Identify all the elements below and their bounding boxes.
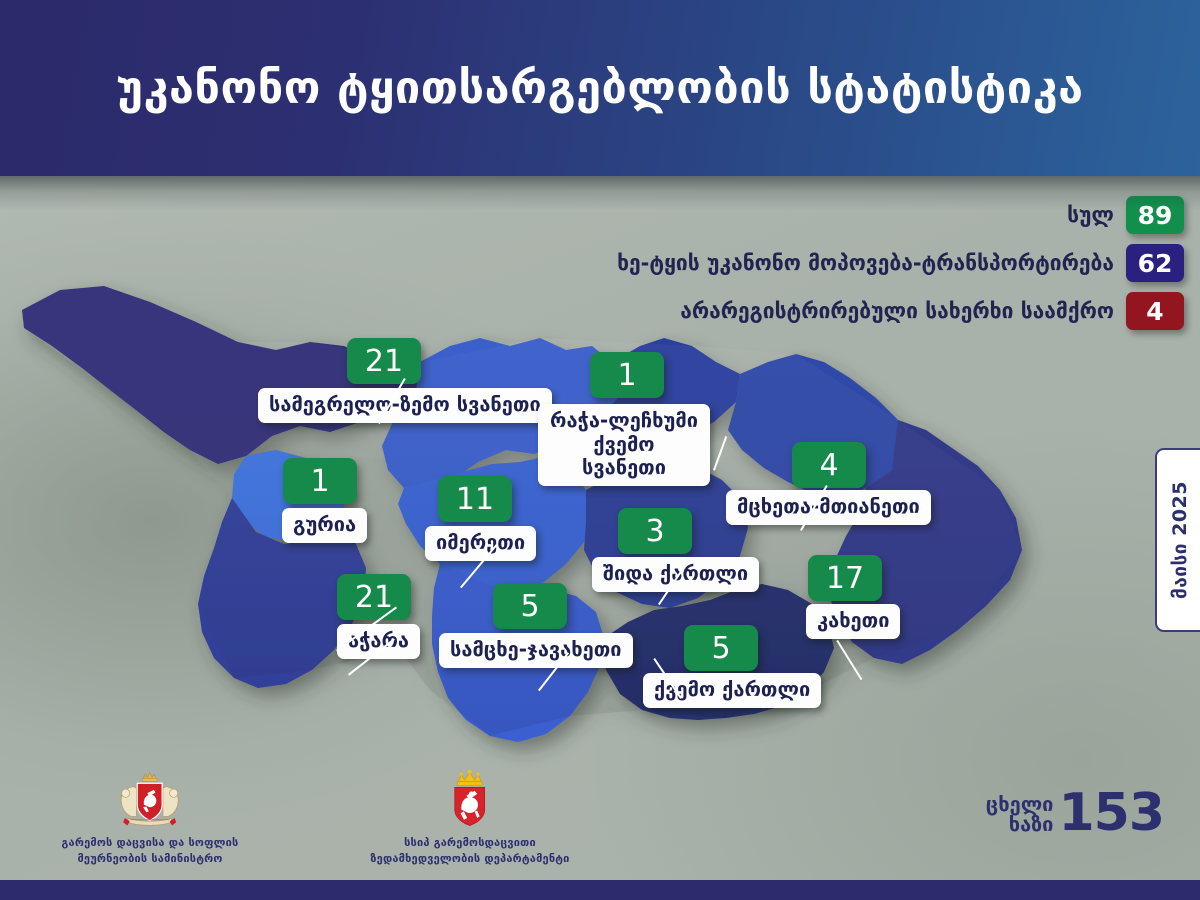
georgia-coat-of-arms-icon (100, 770, 199, 828)
legend-label-total: სულ (1067, 203, 1114, 227)
bottom-bar (0, 880, 1200, 900)
legend-badge-illegal-logging-transport: 62 (1126, 244, 1184, 282)
name-pill-samtskhe-javakheti: სამცხე-ჯავახეთი (439, 633, 633, 668)
org-caption-department-line2: ზედამხედველობის დეპარტამენტი (370, 851, 569, 867)
count-chip-mtskheta-mtianeti: 4 (792, 442, 866, 488)
org-caption-ministry-line1: გარემოს დაცვისა და სოფლის (61, 835, 238, 851)
name-pill-racha-lechkhumi-kvemo-svaneti: რაჭა-ლეჩხუმი ქვემო სვანეთი (538, 404, 710, 486)
count-chip-samegrelo-zemo-svaneti: 21 (347, 338, 421, 384)
name-pill-mtskheta-mtianeti: მცხეთა-მთიანეთი (726, 490, 931, 525)
count-chip-kvemo-kartli: 5 (684, 625, 758, 671)
hotline-line1: ცხელი (986, 794, 1054, 814)
count-chip-racha-lechkhumi-kvemo-svaneti: 1 (590, 352, 664, 398)
count-chip-shida-kartli: 3 (618, 508, 692, 554)
count-chip-adjara: 21 (337, 574, 411, 620)
legend-row-illegal-logging-transport: ხე-ტყის უკანონო მოპოვება-ტრანსპორტირება … (617, 244, 1184, 282)
legend-badge-total: 89 (1126, 196, 1184, 234)
name-pill-samegrelo-zemo-svaneti: სამეგრელო-ზემო სვანეთი (258, 388, 552, 423)
name-pill-shida-kartli: შიდა ქართლი (592, 557, 759, 592)
map-svg (0, 250, 1110, 790)
name-pill-racha-line1: რაჭა-ლეჩხუმი (550, 408, 698, 432)
org-environmental-supervision-department: სსიპ გარემოსდაცვითი ზედამხედველობის დეპა… (300, 770, 640, 867)
department-shield-icon (420, 770, 519, 828)
georgia-region-map (0, 250, 1110, 790)
hotline-words: ცხელი ხაზი (986, 794, 1054, 834)
count-chip-guria: 1 (283, 458, 357, 504)
hotline-block: ცხელი ხაზი 153 (986, 790, 1164, 838)
count-chip-imereti: 11 (438, 476, 512, 522)
count-chip-kakheti: 17 (808, 555, 882, 601)
name-pill-kvemo-kartli: ქვემო ქართლი (643, 673, 821, 708)
date-tab[interactable]: მაისი 2025 (1155, 448, 1200, 632)
legend: სულ 89 ხე-ტყის უკანონო მოპოვება-ტრანსპორ… (104, 196, 1184, 330)
name-pill-kakheti: კახეთი (806, 604, 900, 639)
legend-row-unregistered-sawmill: არარეგისტრირებული სახერხი საამქრო 4 (680, 292, 1184, 330)
org-caption-department: სსიპ გარემოსდაცვითი ზედამხედველობის დეპა… (370, 835, 569, 867)
hotline-line2: ხაზი (986, 814, 1054, 834)
org-caption-department-line1: სსიპ გარემოსდაცვითი (370, 835, 569, 851)
legend-row-total: სულ 89 (1067, 196, 1184, 234)
legend-label-illegal-logging-transport: ხე-ტყის უკანონო მოპოვება-ტრანსპორტირება (617, 251, 1114, 275)
name-pill-racha-line2: ქვემო სვანეთი (582, 432, 666, 480)
org-ministry-of-environment: გარემოს დაცვისა და სოფლის მეურნეობის სამ… (0, 770, 300, 867)
legend-label-unregistered-sawmill: არარეგისტრირებული სახერხი საამქრო (680, 299, 1114, 323)
hotline-number: 153 (1058, 790, 1164, 838)
count-chip-samtskhe-javakheti: 5 (493, 583, 567, 629)
legend-badge-unregistered-sawmill: 4 (1126, 292, 1184, 330)
name-pill-imereti: იმერეთი (425, 526, 536, 561)
page-title: უკანონო ტყითსარგებლობის სტატისტიკა (116, 63, 1083, 113)
name-pill-guria: გურია (282, 508, 367, 543)
org-caption-ministry-line2: მეურნეობის სამინისტრო (61, 851, 238, 867)
footer: გარემოს დაცვისა და სოფლის მეურნეობის სამ… (0, 770, 640, 880)
org-caption-ministry: გარემოს დაცვისა და სოფლის მეურნეობის სამ… (61, 835, 238, 867)
page-header: უკანონო ტყითსარგებლობის სტატისტიკა (0, 0, 1200, 176)
date-tab-label: მაისი 2025 (1169, 481, 1191, 599)
